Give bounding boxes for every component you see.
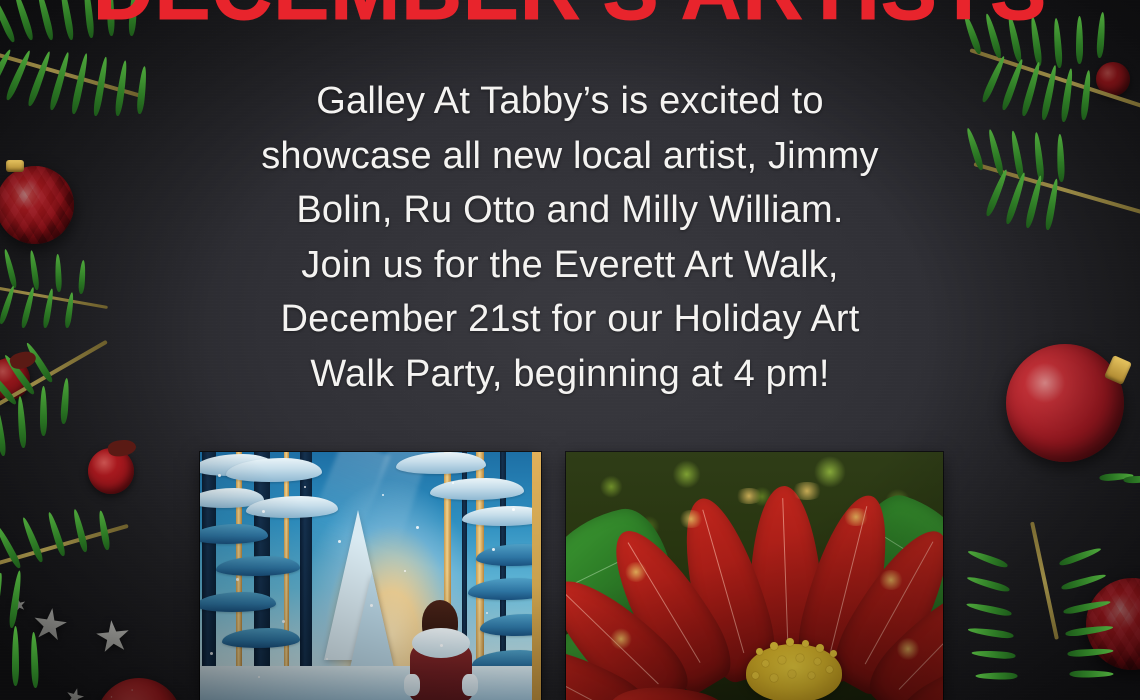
body-line-1: Galley At Tabby’s is excited to bbox=[0, 74, 1140, 129]
fir-needle bbox=[20, 516, 44, 563]
stamen-dot bbox=[788, 670, 796, 678]
snowflake bbox=[258, 676, 260, 678]
gold-edge-sparkle bbox=[678, 510, 704, 528]
tree-trunk-lit bbox=[284, 452, 289, 700]
fir-needle bbox=[967, 548, 1009, 569]
gold-edge-sparkle bbox=[842, 508, 870, 526]
fir-needle bbox=[0, 572, 4, 626]
red-ornament-ball-bottom-right bbox=[1086, 578, 1140, 670]
red-flower-canvas bbox=[566, 452, 943, 700]
fir-needle bbox=[1099, 472, 1133, 481]
fir-needle bbox=[1058, 546, 1102, 568]
figure-fur-cuff-right bbox=[462, 674, 478, 696]
fir-needle bbox=[966, 601, 1012, 617]
stamen-dot bbox=[826, 666, 833, 673]
snowflake bbox=[452, 482, 454, 484]
berry-calyx bbox=[107, 438, 137, 459]
snow-bough-shadow bbox=[200, 592, 276, 612]
stamen-dot bbox=[796, 654, 804, 662]
fir-needle bbox=[97, 510, 111, 551]
snowflake bbox=[210, 652, 213, 655]
stamen-dot bbox=[756, 648, 763, 655]
silver-star-tiny bbox=[64, 686, 86, 700]
fir-needle bbox=[976, 673, 1018, 680]
snowflake bbox=[338, 540, 341, 543]
red-glitter-ball-bottom-left bbox=[96, 678, 182, 700]
poster-body-text: Galley At Tabby’s is excited to showcase… bbox=[0, 74, 1140, 401]
snowflake bbox=[218, 474, 221, 477]
gold-edge-sparkle bbox=[624, 562, 648, 582]
snowflake bbox=[416, 526, 419, 529]
snowflake bbox=[370, 604, 373, 607]
snowflake bbox=[282, 620, 285, 623]
snow-ground bbox=[200, 666, 541, 700]
silver-star-large bbox=[31, 606, 69, 644]
artwork-gold-border bbox=[532, 452, 541, 700]
fir-needle bbox=[16, 396, 27, 448]
body-line-4: Join us for the Everett Art Walk, bbox=[0, 238, 1140, 293]
tree-trunk bbox=[254, 452, 270, 700]
decoration-bottom-left-cluster bbox=[0, 500, 180, 700]
stamen-dot bbox=[762, 660, 769, 667]
artwork-red-flower[interactable] bbox=[566, 452, 943, 700]
fir-needle bbox=[71, 508, 88, 552]
fir-needle bbox=[12, 626, 19, 686]
stamen-dot bbox=[808, 672, 815, 679]
fir-needle bbox=[0, 406, 7, 456]
holiday-art-poster: DECEMBER'S ARTISTS Galley At Tabby’s is … bbox=[0, 0, 1140, 700]
fir-needle bbox=[8, 570, 23, 628]
gold-edge-sparkle bbox=[610, 628, 632, 650]
artwork-winter-forest[interactable] bbox=[200, 452, 541, 700]
fir-branch-stem bbox=[0, 524, 129, 576]
gold-edge-sparkle bbox=[734, 488, 764, 504]
fir-needle bbox=[971, 649, 1015, 659]
fir-branch-stem bbox=[1030, 522, 1059, 640]
gold-edge-sparkle bbox=[878, 570, 904, 590]
snowflake bbox=[440, 644, 443, 647]
snowflake bbox=[326, 658, 328, 660]
figure-fur-cuff-left bbox=[404, 674, 420, 696]
stamen-dot bbox=[770, 642, 778, 650]
tree-trunk bbox=[300, 452, 312, 700]
snow-bough-shadow bbox=[200, 524, 268, 544]
center-conifer-tree-small bbox=[350, 572, 394, 668]
snowflake bbox=[512, 508, 515, 511]
snowflake bbox=[262, 510, 265, 513]
fir-needle bbox=[966, 575, 1010, 594]
silver-star-small bbox=[11, 597, 28, 614]
poster-title-clip: DECEMBER'S ARTISTS bbox=[0, 0, 1140, 38]
silver-star-medium bbox=[94, 618, 131, 655]
fir-needle bbox=[30, 632, 39, 688]
stamen-dot bbox=[814, 658, 821, 665]
fir-needle bbox=[1070, 671, 1114, 678]
winter-forest-canvas bbox=[200, 452, 541, 700]
snowflake bbox=[404, 570, 406, 572]
snowflake bbox=[304, 486, 306, 488]
gold-edge-sparkle bbox=[790, 482, 824, 500]
stamen-dot bbox=[802, 640, 809, 647]
stamen-dot bbox=[786, 638, 794, 646]
snowflake bbox=[236, 578, 239, 581]
stamen-dot bbox=[816, 644, 824, 652]
snowflake bbox=[492, 548, 495, 551]
fir-needle bbox=[1123, 475, 1140, 483]
gold-edge-sparkle bbox=[896, 638, 920, 660]
page-title: DECEMBER'S ARTISTS bbox=[93, 0, 1047, 38]
fir-needle bbox=[46, 511, 67, 557]
fir-needle bbox=[967, 626, 1014, 639]
stamen-dot bbox=[752, 672, 759, 679]
stamen-dot bbox=[778, 656, 786, 664]
snowflake bbox=[486, 612, 488, 614]
stamen-dot bbox=[830, 650, 837, 657]
body-line-5: December 21st for our Holiday Art bbox=[0, 292, 1140, 347]
fir-needle bbox=[0, 524, 23, 570]
body-line-6: Walk Party, beginning at 4 pm! bbox=[0, 347, 1140, 402]
figure-fur-hood bbox=[412, 628, 470, 658]
body-line-2: showcase all new local artist, Jimmy bbox=[0, 129, 1140, 184]
snowflake bbox=[382, 494, 384, 496]
body-line-3: Bolin, Ru Otto and Milly William. bbox=[0, 183, 1140, 238]
stamen-dot bbox=[770, 674, 778, 682]
fir-needle bbox=[0, 620, 1, 682]
